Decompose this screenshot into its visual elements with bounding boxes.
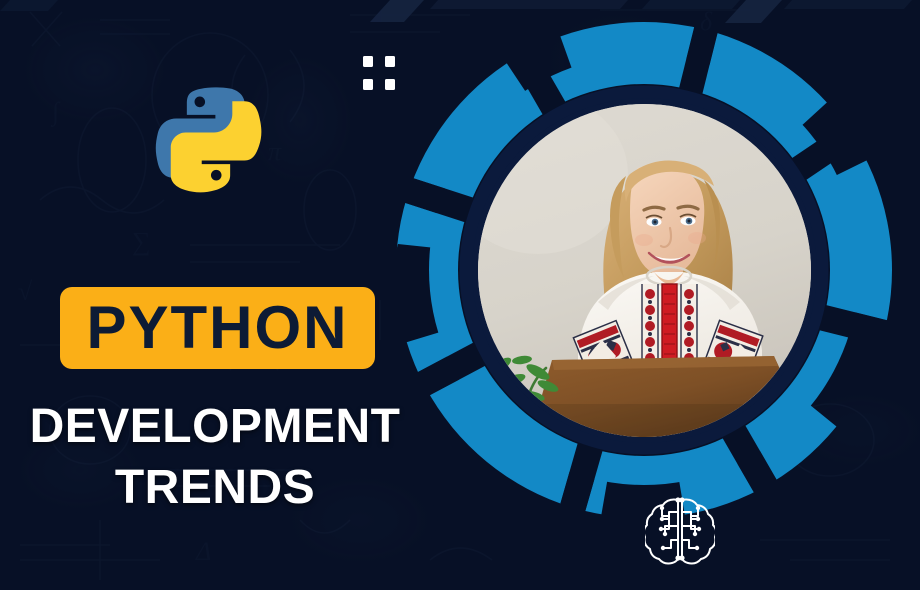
python-badge: PYTHON — [60, 287, 375, 369]
svg-text:√: √ — [18, 277, 33, 306]
page-title-line-2: TRENDS — [0, 457, 430, 518]
python-development-trends-banner: ∫ ∑ π √ ∞ Δ δ PYTHON — [0, 0, 920, 590]
grid-dot — [363, 79, 373, 90]
svg-text:Δ: Δ — [195, 537, 211, 566]
page-title-line-1: DEVELOPMENT — [0, 396, 430, 457]
ai-brain-circuit-icon — [645, 492, 715, 566]
woman-at-laptop-photo — [478, 104, 811, 437]
python-badge-label: PYTHON — [86, 298, 348, 358]
python-logo-icon — [150, 82, 282, 214]
avatar-photo — [478, 104, 811, 437]
page-title: DEVELOPMENT TRENDS — [0, 396, 430, 519]
svg-text:∑: ∑ — [132, 227, 151, 256]
svg-text:∫: ∫ — [50, 97, 61, 127]
grid-dot — [363, 56, 373, 67]
